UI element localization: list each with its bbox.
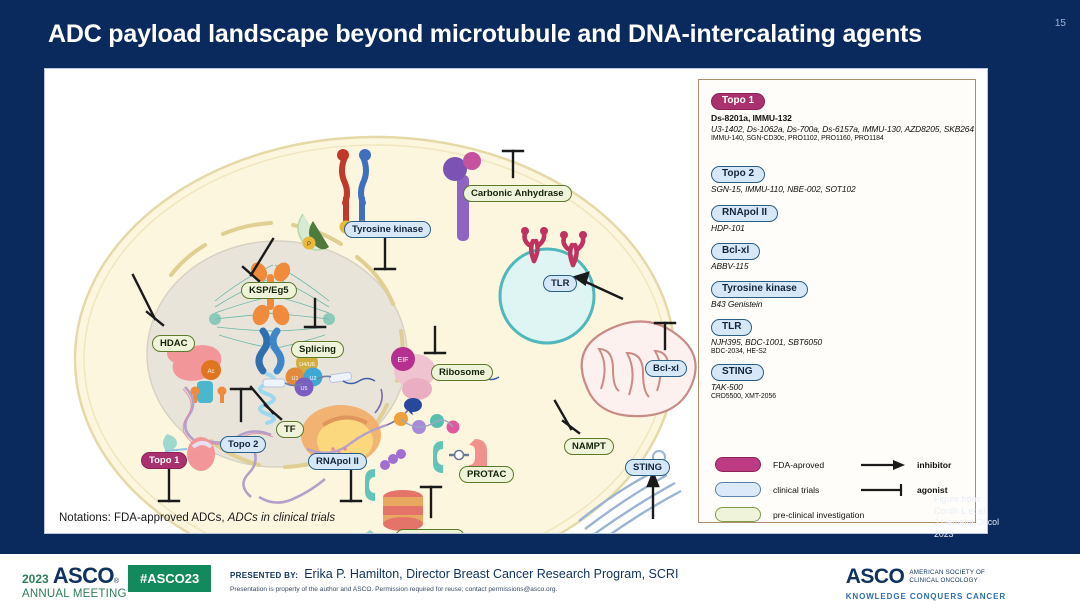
asco-tagline: KNOWLEDGE CONQUERS CANCER bbox=[846, 592, 1006, 601]
cell-diagram: Ac U4/U6 bbox=[45, 69, 697, 533]
notations-text: Notations: FDA-approved ADCs, ADCs in cl… bbox=[59, 512, 335, 524]
notations-italic: ADCs in clinical trials bbox=[228, 512, 335, 524]
key-row-pre-clinical: pre-clinical investigation bbox=[715, 502, 965, 527]
key-label-clinical-trials: clinical trials bbox=[773, 485, 819, 495]
figure-credit-line4: 2023 bbox=[934, 529, 999, 541]
legend-group-bcl-xl: Bcl-xl ABBV-115 bbox=[711, 240, 760, 271]
legend-trials-topo-2: SGN-15, IMMU-110, NBE-002, SOT102 bbox=[711, 184, 856, 195]
legend-approved-topo-1: Ds-8201a, IMMU-132 bbox=[711, 113, 974, 123]
legend-trials-topo-1: U3-1402, Ds-1062a, Ds-700a, Ds-6157a, IM… bbox=[711, 124, 974, 135]
legend-group-sting: STING TAK-500 CRD5500, XMT-2056 bbox=[711, 361, 776, 400]
presenter-block: PRESENTED BY: Erika P. Hamilton, Directo… bbox=[230, 567, 678, 593]
key-label-pre-clinical: pre-clinical investigation bbox=[773, 510, 864, 520]
legend-pill-tlr[interactable]: TLR bbox=[711, 319, 752, 336]
legend-trials-rnapol-ii: HDP-101 bbox=[711, 223, 778, 234]
diagram-label-sting[interactable]: STING bbox=[625, 459, 670, 476]
legend-pill-topo-2[interactable]: Topo 2 bbox=[711, 166, 765, 183]
diagram-label-proteasome[interactable]: Proteasome bbox=[395, 529, 465, 533]
key-label-agonist: agonist bbox=[917, 485, 948, 495]
legend-group-rnapol-ii: RNApol II HDP-101 bbox=[711, 202, 778, 233]
legend-trials-bcl-xl: ABBV-115 bbox=[711, 261, 760, 272]
diagram-label-rnapol-ii[interactable]: RNApol II bbox=[308, 453, 367, 470]
pre-clinical-swatch bbox=[715, 507, 761, 522]
legend-preclinical-sting: CRD5500, XMT-2056 bbox=[711, 393, 776, 400]
asco-logo-subtitle-line1: AMERICAN SOCIETY OF bbox=[909, 569, 985, 576]
key-label-fda-approved: FDA-aproved bbox=[773, 460, 824, 470]
legend-pill-tyrosine-kinase[interactable]: Tyrosine kinase bbox=[711, 281, 808, 298]
slide-content-panel: Ac U4/U6 bbox=[44, 68, 988, 534]
permission-text: Presentation is property of the author a… bbox=[230, 586, 678, 593]
slide-number: 15 bbox=[1055, 18, 1066, 29]
legend-pill-sting[interactable]: STING bbox=[711, 364, 764, 381]
diagram-label-nampt[interactable]: NAMPT bbox=[564, 438, 614, 455]
svg-text:P: P bbox=[307, 242, 311, 248]
diagram-label-protac[interactable]: PROTAC bbox=[459, 466, 514, 483]
figure-credit: Figure from: Conilh L et al. J Hematol O… bbox=[934, 494, 999, 540]
asco-logo-subtitle-line2: CLINICAL ONCOLOGY bbox=[909, 577, 978, 584]
bar-end-icon bbox=[859, 483, 907, 497]
legend-group-topo-1: Topo 1 Ds-8201a, IMMU-132 U3-1402, Ds-10… bbox=[711, 90, 974, 142]
key-row-inhibitor: inhibitor bbox=[859, 452, 951, 477]
notations-prefix: Notations: FDA-approved ADCs, bbox=[59, 512, 225, 524]
diagram-label-ksp-eg5[interactable]: KSP/Eg5 bbox=[241, 282, 297, 299]
page-title: ADC payload landscape beyond microtubule… bbox=[48, 20, 1008, 49]
diagram-label-topo-1[interactable]: Topo 1 bbox=[141, 452, 187, 469]
asco-annual-meeting-logo: 2023 ASCO ® ANNUAL MEETING bbox=[22, 563, 127, 600]
clinical-trials-swatch bbox=[715, 482, 761, 497]
diagram-label-tlr[interactable]: TLR bbox=[543, 275, 577, 292]
meeting-asco-word: ASCO bbox=[53, 563, 114, 589]
meeting-year: 2023 bbox=[22, 572, 49, 586]
diagram-label-ribosome[interactable]: Ribosome bbox=[431, 364, 493, 381]
legend-trials-tlr: NJH395, BDC-1001, SBT6050 bbox=[711, 337, 822, 348]
legend-preclinical-topo-1: IMMU-140, SGN-CD30c, PRO1102, PRO1160, P… bbox=[711, 135, 974, 142]
presented-by-label: PRESENTED BY: bbox=[230, 571, 298, 580]
legend-trials-sting: TAK-500 bbox=[711, 382, 776, 393]
legend-preclinical-tlr: BDC-2034, HE-S2 bbox=[711, 348, 822, 355]
diagram-label-topo-2[interactable]: Topo 2 bbox=[220, 436, 266, 453]
asco-logo-subtitle: AMERICAN SOCIETY OF CLINICAL ONCOLOGY bbox=[909, 569, 985, 585]
diagram-label-carbonic-anhydrase[interactable]: Carbonic Anhydrase bbox=[463, 185, 572, 202]
legend-trials-tyrosine-kinase: B43 Genistein bbox=[711, 299, 808, 310]
slide-footer: 2023 ASCO ® ANNUAL MEETING #ASCO23 PRESE… bbox=[0, 552, 1080, 608]
hashtag-badge[interactable]: #ASCO23 bbox=[128, 565, 211, 592]
arrow-icon bbox=[859, 458, 907, 472]
registered-mark-icon: ® bbox=[114, 578, 119, 585]
figure-credit-line3: J Hematol Oncol bbox=[934, 517, 999, 529]
legend-pill-rnapol-ii[interactable]: RNApol II bbox=[711, 205, 778, 222]
legend-pill-topo-1[interactable]: Topo 1 bbox=[711, 93, 765, 110]
legend-group-topo-2: Topo 2 SGN-15, IMMU-110, NBE-002, SOT102 bbox=[711, 163, 856, 194]
legend-group-tlr: TLR NJH395, BDC-1001, SBT6050 BDC-2034, … bbox=[711, 316, 822, 355]
diagram-label-tf[interactable]: TF bbox=[276, 421, 304, 438]
svg-text:U5: U5 bbox=[300, 386, 307, 392]
asco-society-logo: ASCO AMERICAN SOCIETY OF CLINICAL ONCOLO… bbox=[846, 565, 1006, 601]
diagram-label-hdac[interactable]: HDAC bbox=[152, 335, 195, 352]
fda-approved-swatch bbox=[715, 457, 761, 472]
diagram-label-bcl-xl[interactable]: Bcl-xl bbox=[645, 360, 687, 377]
diagram-label-splicing[interactable]: Splicing bbox=[291, 341, 344, 358]
meeting-subtitle: ANNUAL MEETING bbox=[22, 588, 127, 600]
asco-logo-word: ASCO bbox=[846, 565, 905, 589]
figure-credit-line2: Conilh L et al. bbox=[934, 506, 999, 518]
legend-group-tyrosine-kinase: Tyrosine kinase B43 Genistein bbox=[711, 278, 808, 309]
figure-credit-line1: Figure from: bbox=[934, 494, 999, 506]
svg-text:EIF: EIF bbox=[398, 357, 409, 364]
legend-pill-bcl-xl[interactable]: Bcl-xl bbox=[711, 243, 760, 260]
svg-text:Ac: Ac bbox=[207, 369, 214, 375]
diagram-label-tyrosine-kinase[interactable]: Tyrosine kinase bbox=[344, 221, 431, 238]
svg-text:U4/U6: U4/U6 bbox=[299, 362, 315, 368]
key-label-inhibitor: inhibitor bbox=[917, 460, 951, 470]
presenter-name: Erika P. Hamilton, Director Breast Cance… bbox=[304, 567, 678, 581]
payload-legend-panel: Topo 1 Ds-8201a, IMMU-132 U3-1402, Ds-10… bbox=[698, 79, 976, 523]
